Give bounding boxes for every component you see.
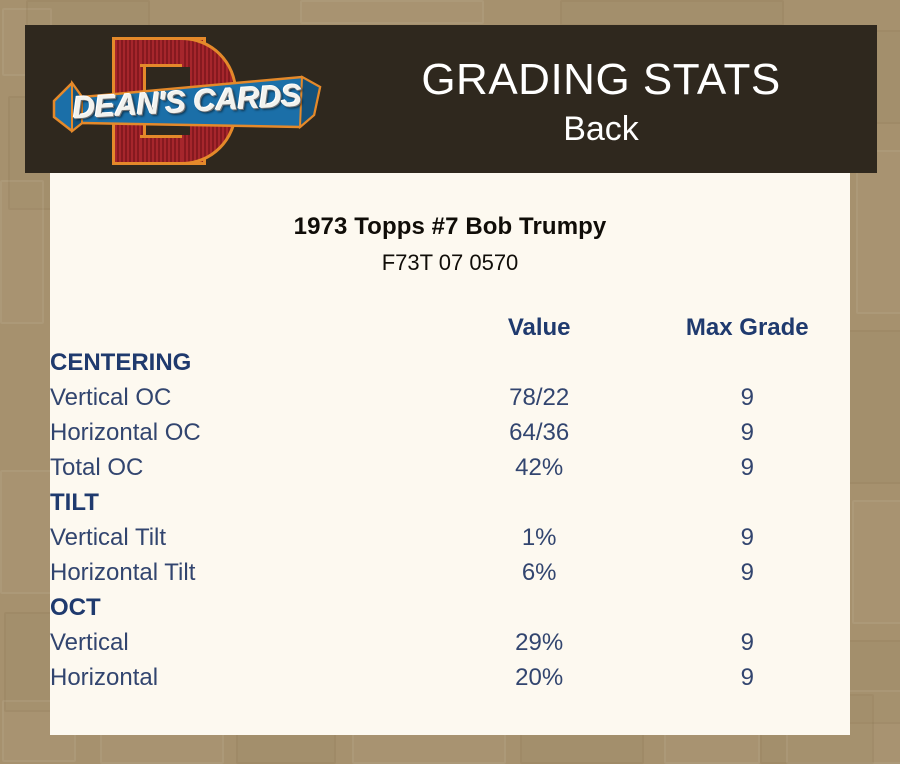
- table-header-row: Value Max Grade: [50, 314, 850, 349]
- section-title: TILT: [50, 489, 434, 524]
- page-subtitle: Back: [563, 109, 639, 150]
- stat-label: Vertical: [50, 629, 434, 664]
- section-row: OCT: [50, 594, 850, 629]
- column-header-value: Value: [434, 314, 645, 349]
- section-row: TILT: [50, 489, 850, 524]
- stat-value: 1%: [434, 524, 645, 559]
- stats-panel: 1973 Topps #7 Bob Trumpy F73T 07 0570 Va…: [50, 173, 850, 735]
- table-row: Horizontal OC64/369: [50, 419, 850, 454]
- card-id: F73T 07 0570: [50, 250, 850, 276]
- table-row: Horizontal20%9: [50, 664, 850, 699]
- grading-stats-page: DEAN'S CARDS GRADING STATS Back 1973 Top…: [0, 0, 900, 760]
- section-row: CENTERING: [50, 349, 850, 384]
- stat-value: 29%: [434, 629, 645, 664]
- section-grade-spacer: [645, 489, 850, 524]
- stat-label: Total OC: [50, 454, 434, 489]
- table-body: CENTERINGVertical OC78/229Horizontal OC6…: [50, 349, 850, 699]
- stat-max-grade: 9: [645, 629, 850, 664]
- stat-value: 6%: [434, 559, 645, 594]
- section-value-spacer: [434, 594, 645, 629]
- stat-value: 42%: [434, 454, 645, 489]
- grading-stats-table: Value Max Grade CENTERINGVertical OC78/2…: [50, 314, 850, 699]
- stat-max-grade: 9: [645, 384, 850, 419]
- stat-value: 20%: [434, 664, 645, 699]
- section-grade-spacer: [645, 594, 850, 629]
- section-title: OCT: [50, 594, 434, 629]
- stat-label: Horizontal: [50, 664, 434, 699]
- stat-max-grade: 9: [645, 524, 850, 559]
- section-value-spacer: [434, 489, 645, 524]
- stat-label: Vertical OC: [50, 384, 434, 419]
- section-title: CENTERING: [50, 349, 434, 384]
- stat-max-grade: 9: [645, 419, 850, 454]
- stat-label: Horizontal OC: [50, 419, 434, 454]
- stat-label: Horizontal Tilt: [50, 559, 434, 594]
- stat-max-grade: 9: [645, 559, 850, 594]
- header-titles: GRADING STATS Back: [325, 25, 877, 173]
- logo-ribbon-icon: DEAN'S CARDS: [52, 71, 322, 133]
- table-row: Total OC42%9: [50, 454, 850, 489]
- stat-max-grade: 9: [645, 454, 850, 489]
- column-header-label: [50, 314, 434, 349]
- section-value-spacer: [434, 349, 645, 384]
- stat-value: 64/36: [434, 419, 645, 454]
- table-row: Vertical Tilt1%9: [50, 524, 850, 559]
- page-title: GRADING STATS: [421, 57, 780, 103]
- stat-label: Vertical Tilt: [50, 524, 434, 559]
- deans-cards-logo[interactable]: DEAN'S CARDS: [52, 31, 322, 171]
- column-header-max-grade: Max Grade: [645, 314, 850, 349]
- card-title: 1973 Topps #7 Bob Trumpy: [50, 213, 850, 241]
- stat-max-grade: 9: [645, 664, 850, 699]
- page-header: DEAN'S CARDS GRADING STATS Back: [25, 25, 877, 173]
- table-row: Vertical OC78/229: [50, 384, 850, 419]
- section-grade-spacer: [645, 349, 850, 384]
- stat-value: 78/22: [434, 384, 645, 419]
- table-row: Vertical29%9: [50, 629, 850, 664]
- table-row: Horizontal Tilt6%9: [50, 559, 850, 594]
